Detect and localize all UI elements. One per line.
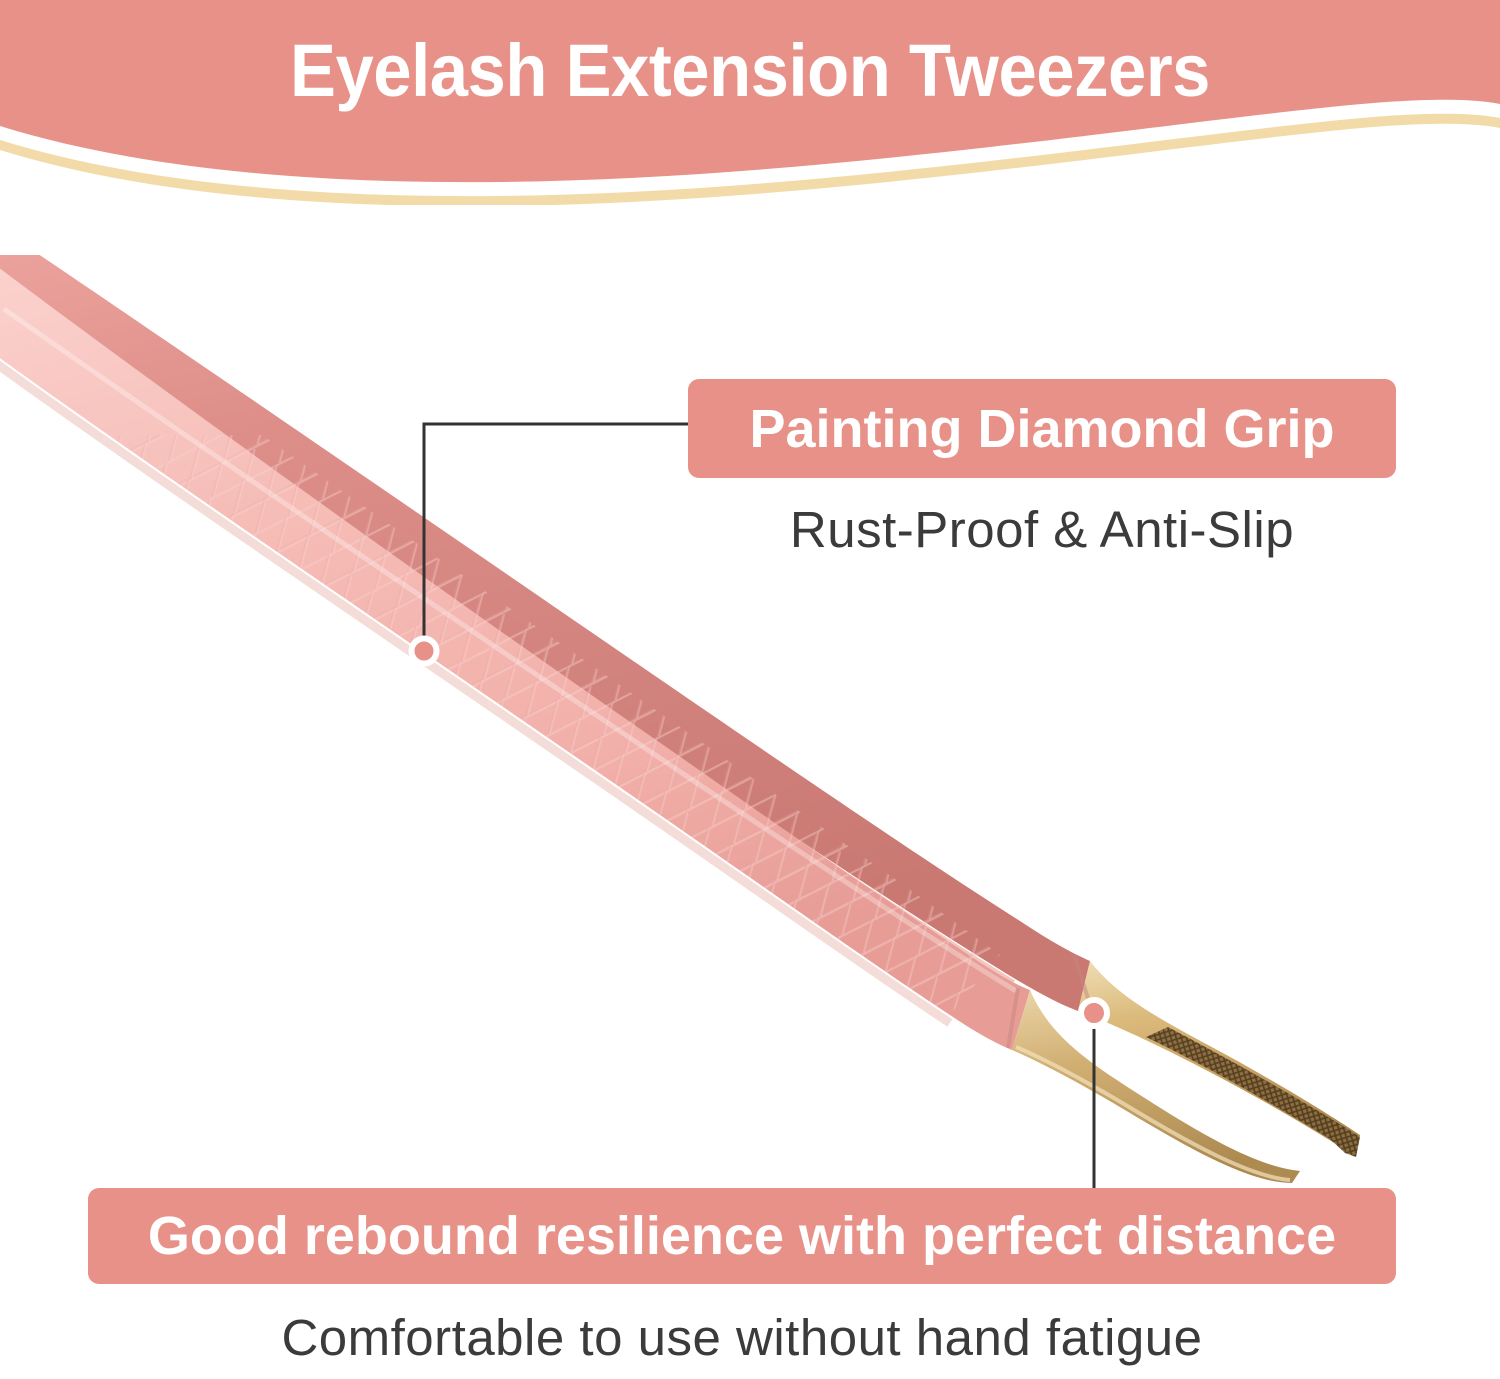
callout-subtitle-rust-proof: Rust-Proof & Anti-Slip bbox=[688, 500, 1396, 559]
header-banner: Eyelash Extension Tweezers bbox=[0, 0, 1500, 205]
callout-badge-painting-diamond-grip[interactable]: Painting Diamond Grip bbox=[688, 379, 1396, 478]
callout-badge-good-rebound-resilience[interactable]: Good rebound resilience with perfect dis… bbox=[88, 1188, 1396, 1284]
product-infographic: Eyelash Extension Tweezers bbox=[0, 0, 1500, 1379]
callout-subtitle-comfortable-to-use: Comfortable to use without hand fatigue bbox=[88, 1308, 1396, 1367]
page-title: Eyelash Extension Tweezers bbox=[53, 31, 1448, 111]
